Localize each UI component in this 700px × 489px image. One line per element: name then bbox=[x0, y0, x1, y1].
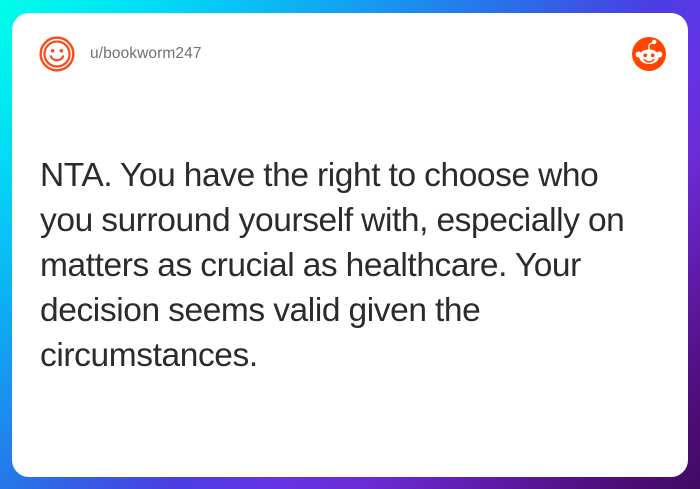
reddit-logo[interactable] bbox=[632, 37, 666, 71]
post-body-text: NTA. You have the right to choose who yo… bbox=[40, 153, 658, 378]
reddit-post-screenshot: u/bookworm247 bbox=[0, 0, 700, 489]
avatar[interactable] bbox=[38, 35, 76, 73]
post-header: u/bookworm247 bbox=[12, 13, 688, 95]
reddit-snoo-icon bbox=[632, 37, 666, 71]
post-card: u/bookworm247 bbox=[12, 13, 688, 477]
username-label: u/bookworm247 bbox=[90, 45, 202, 63]
smiley-face-icon bbox=[38, 35, 76, 73]
